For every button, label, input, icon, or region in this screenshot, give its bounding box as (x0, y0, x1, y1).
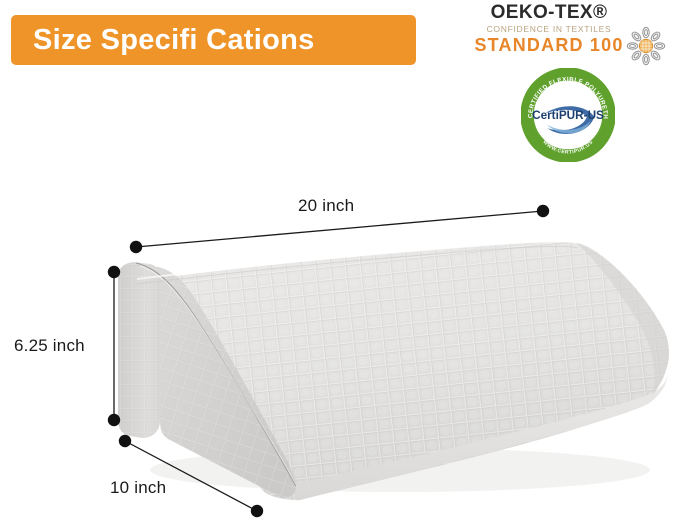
dimension-line-height (108, 266, 120, 426)
page-title-banner: Size Specifi Cations (11, 15, 416, 65)
dimension-label-height: 6.25 inch (14, 336, 85, 356)
snowflake-emblem-icon (626, 26, 666, 66)
oeko-tex-badge: OEKO-TEX® CONFIDENCE IN TEXTILES STANDAR… (470, 2, 675, 60)
pillow-left-end-face (118, 262, 160, 438)
pillow-seam-line (136, 263, 296, 486)
dimension-label-width: 20 inch (298, 196, 354, 216)
spec-image-canvas: Size Specifi Cations OEKO-TEX® CONFIDENC… (0, 0, 679, 519)
oeko-tex-standard: STANDARD 100 (470, 35, 628, 56)
certipur-us-seal: CONTAINS CERTIFIED FLEXIBLE POLYURETHANE… (521, 68, 615, 162)
page-title: Size Specifi Cations (33, 26, 315, 55)
pillow-front-side-face (152, 266, 296, 498)
oeko-tex-name: OEKO-TEX® (470, 2, 628, 24)
dimension-line-depth (119, 435, 263, 517)
pillow-front-edge-band (294, 372, 668, 500)
dimension-label-depth: 10 inch (110, 478, 166, 498)
pillow-top-surface (137, 242, 669, 500)
certipur-center-text: CertiPUR-US (532, 109, 604, 122)
oeko-tex-tagline: CONFIDENCE IN TEXTILES (470, 24, 628, 34)
